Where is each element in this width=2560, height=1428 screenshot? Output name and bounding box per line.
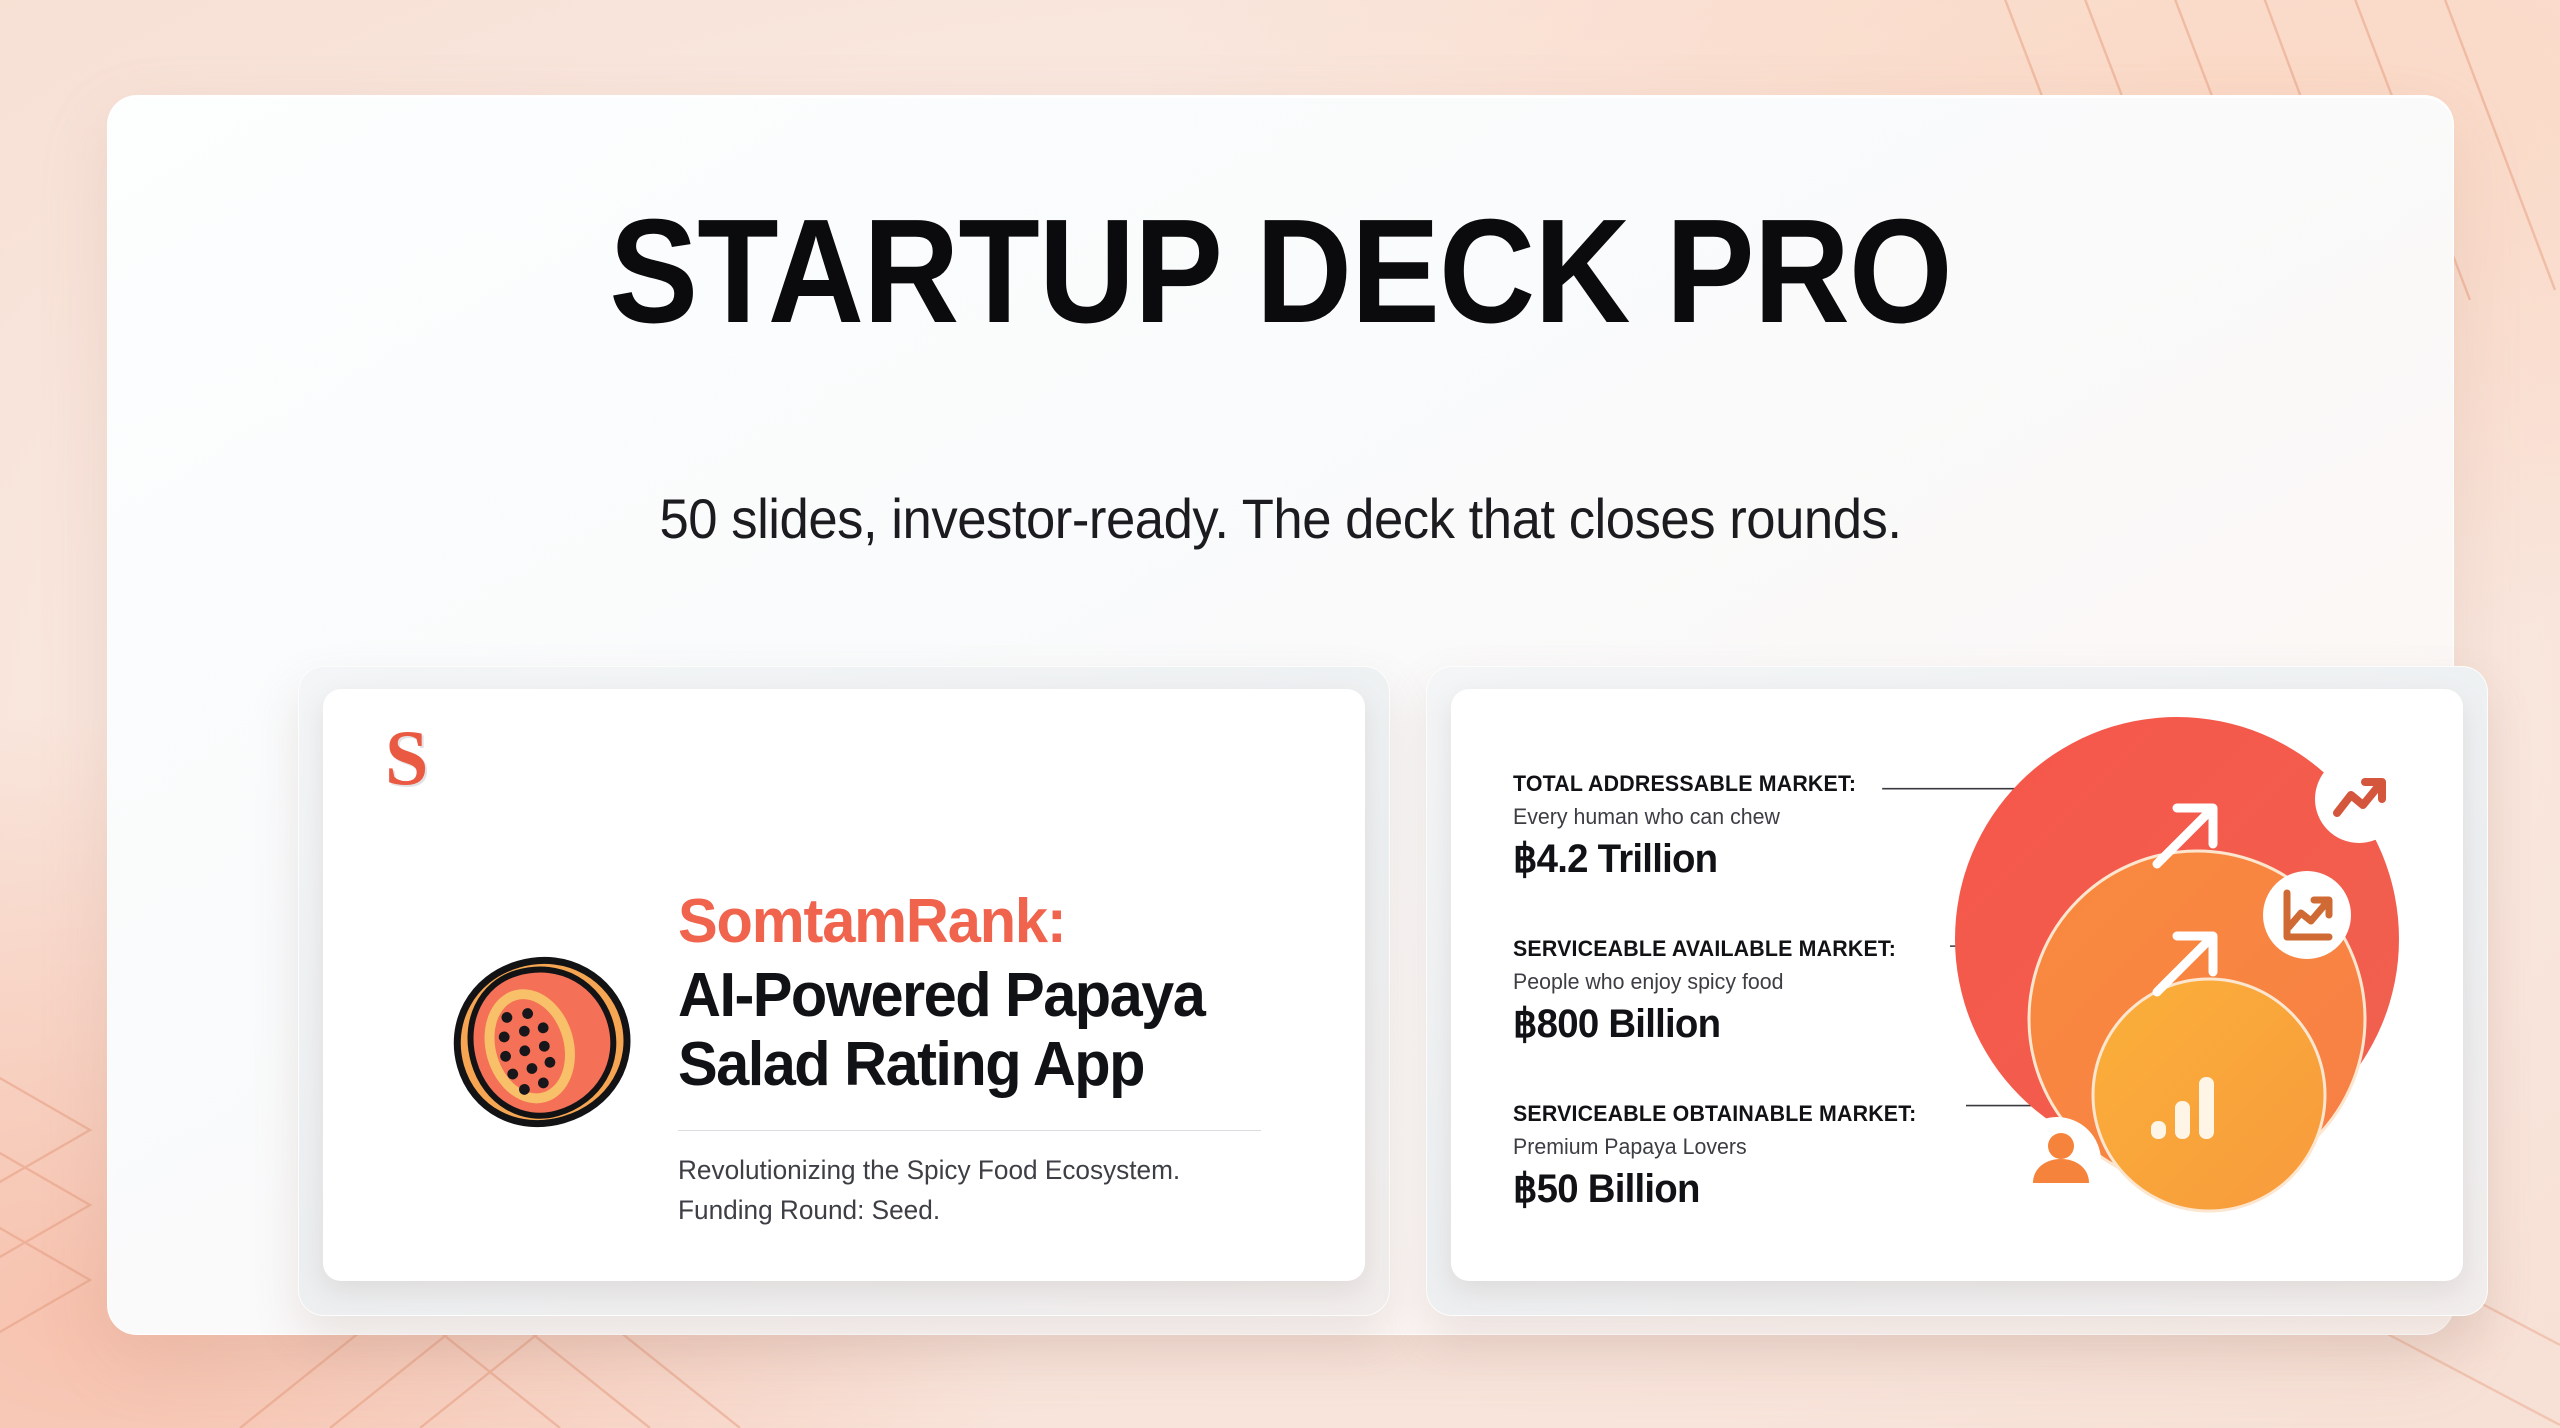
badge-trending-up: [2315, 755, 2403, 843]
page-subtitle: 50 slides, investor-ready. The deck that…: [178, 486, 2382, 551]
badge-user: [2013, 1117, 2101, 1205]
hero-panel: STARTUP DECK PRO 50 slides, investor-rea…: [107, 95, 2454, 1335]
slide-card-title[interactable]: S: [298, 666, 1390, 1316]
slide-card-market[interactable]: TOTAL ADDRESSABLE MARKET: Every human wh…: [1426, 666, 2488, 1316]
brand-name: SomtamRank:: [678, 889, 1280, 955]
page-title: STARTUP DECK PRO: [225, 198, 2336, 346]
slide-title-text-group: SomtamRank: AI-Powered Papaya Salad Rati…: [678, 889, 1305, 1231]
slide-card-title-surface: S: [323, 689, 1365, 1281]
divider: [678, 1130, 1261, 1131]
slide-footnote-line2: Funding Round: Seed.: [678, 1191, 1286, 1231]
badge-line-chart: [2263, 871, 2351, 959]
market-circles-chart: [1909, 689, 2463, 1281]
slide-footnote-line1: Revolutionizing the Spicy Food Ecosystem…: [678, 1151, 1286, 1191]
somtamrank-s-logo: S: [385, 719, 428, 797]
papaya-half-icon: [441, 947, 641, 1137]
slide-card-market-surface: TOTAL ADDRESSABLE MARKET: Every human wh…: [1451, 689, 2463, 1281]
brand-tagline: AI-Powered Papaya Salad Rating App: [678, 961, 1280, 1100]
